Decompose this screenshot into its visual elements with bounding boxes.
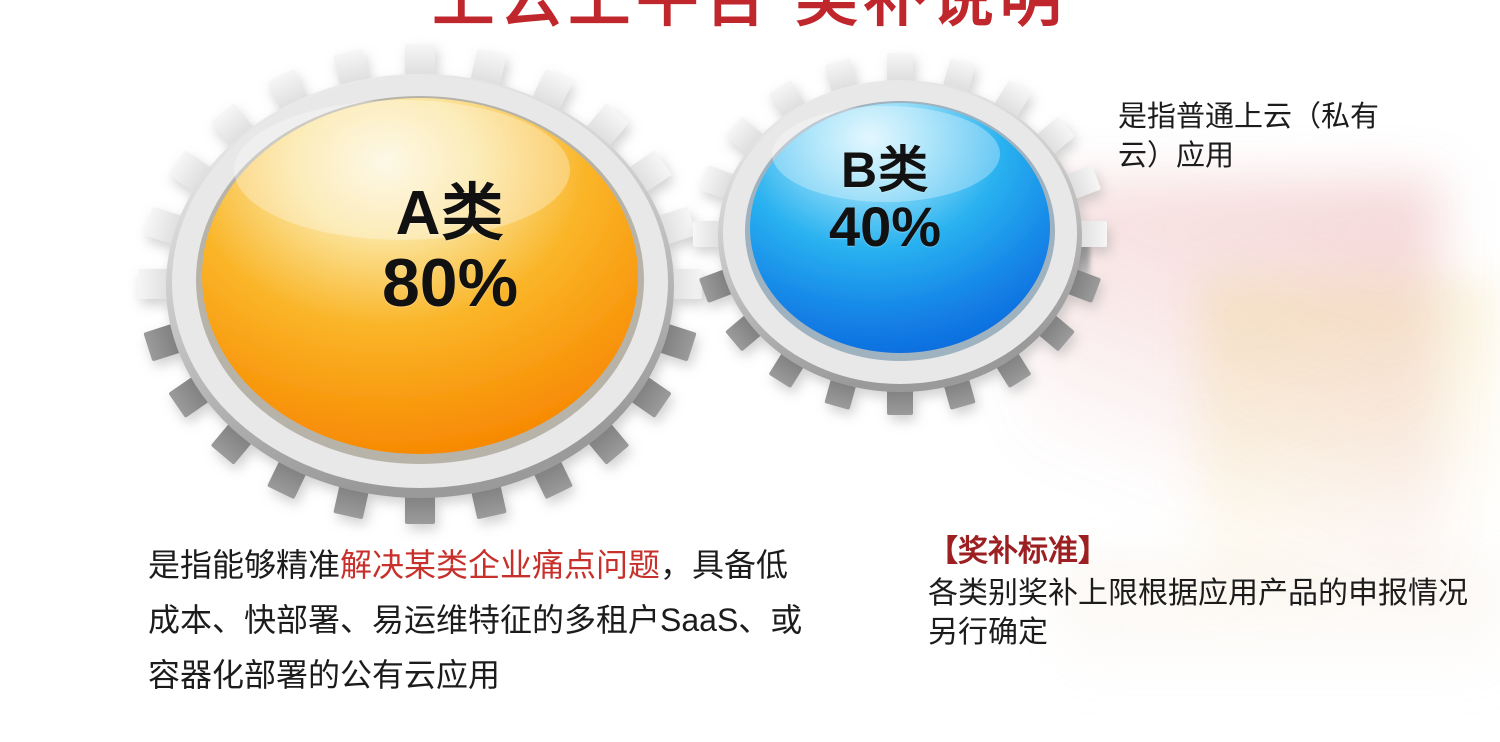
gear-a-description: 是指能够精准解决某类企业痛点问题，具备低成本、快部署、易运维特征的多租户SaaS… (148, 538, 808, 703)
gear-b-graphic (700, 48, 1100, 448)
subsidy-standard-body: 各类别奖补上限根据应用产品的申报情况另行确定 (928, 574, 1488, 653)
slide-canvas: 上云上平台 奖补说明 (0, 0, 1500, 742)
page-title: 上云上平台 奖补说明 (0, 0, 1500, 38)
subsidy-standard-block: 【奖补标准】 各类别奖补上限根据应用产品的申报情况另行确定 (928, 532, 1488, 653)
gear-b-description: 是指普通上云（私有云）应用 (1118, 98, 1418, 176)
gear-a-graphic (140, 58, 700, 528)
gear-a-description-lead: 是指能够精准 (148, 547, 340, 583)
subsidy-standard-heading: 【奖补标准】 (928, 532, 1488, 572)
gear-a-description-highlight: 解决某类企业痛点问题 (340, 547, 660, 583)
